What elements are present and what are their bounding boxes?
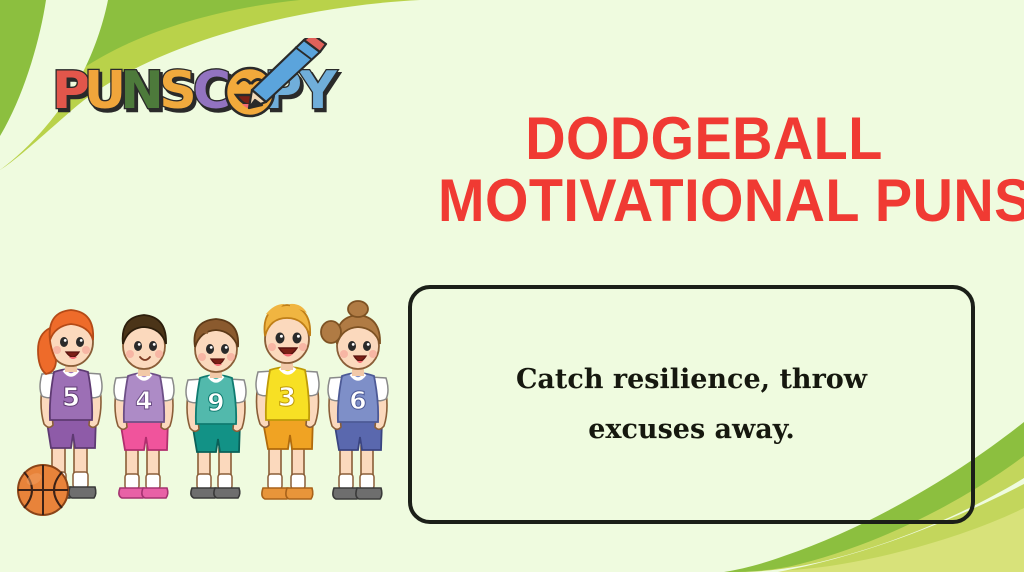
- punscopy-logo[interactable]: P U N S C P Y: [52, 38, 342, 124]
- logo-letter-Y: Y: [298, 61, 338, 121]
- jersey-number: 5: [62, 383, 80, 413]
- jersey-number: 3: [278, 383, 296, 413]
- jersey-number: 4: [135, 386, 152, 415]
- quote-card: Catch resilience, throw excuses away.: [408, 285, 975, 524]
- slide-canvas: P U N S C P Y DODGEBALL MOTIVATIONAL PUN…: [0, 0, 1024, 572]
- logo-letter-N: N: [120, 61, 164, 121]
- kid-number-3: 3: [256, 304, 319, 499]
- jersey-number: 9: [207, 388, 224, 417]
- jersey-number: 6: [349, 386, 366, 415]
- logo-letter-S: S: [159, 61, 196, 121]
- five-kids-basketball-team: 5: [8, 296, 398, 526]
- kid-number-4: 4: [114, 315, 174, 498]
- kid-number-9: 9: [186, 319, 246, 498]
- page-title-line-2: MOTIVATIONAL PUNS: [438, 170, 970, 232]
- page-title: DODGEBALL MOTIVATIONAL PUNS: [418, 108, 990, 232]
- page-title-line-1: DODGEBALL: [438, 108, 970, 170]
- kid-number-6: 6: [321, 301, 388, 499]
- basketball: [18, 465, 68, 515]
- quote-text: Catch resilience, throw excuses away.: [468, 355, 915, 455]
